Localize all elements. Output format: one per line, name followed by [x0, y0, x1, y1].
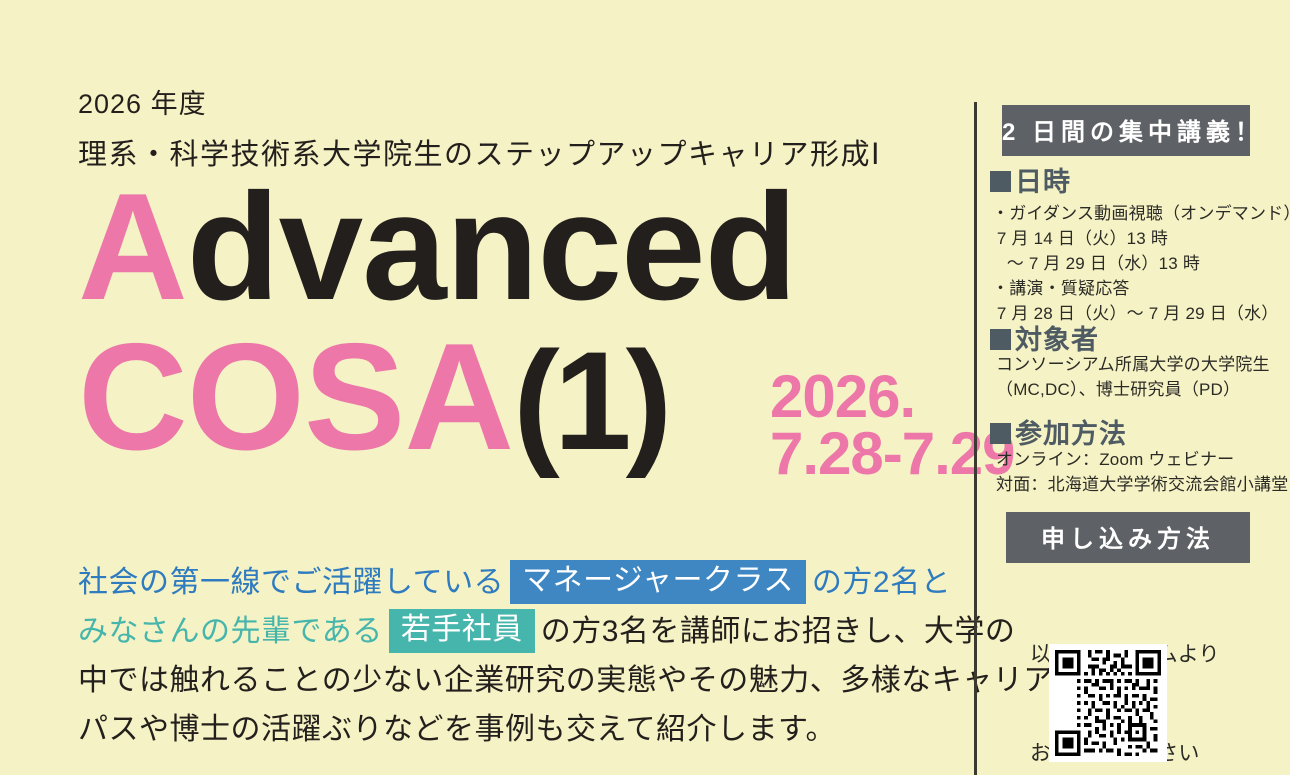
title-date-year: 2026. [770, 368, 1015, 425]
section-heading-participation-label: 参加方法 [1015, 419, 1127, 449]
description-line-1-pre: 社会の第一線でご活躍している [78, 566, 504, 599]
title-edition-number: (1) [513, 322, 666, 479]
info-sidebar: 2 日間の集中講義！ 日時 ・ガイダンス動画視聴（オンデマンド） 7 月 14 … [988, 0, 1290, 775]
title-line-cosa: COSA(1) [78, 321, 666, 473]
poster-root: 2026 年度 理系・科学技術系大学院生のステップアップキャリア形成Ⅰ Adva… [0, 0, 1290, 775]
title-line-advanced: Advanced [78, 171, 796, 323]
description-paragraph: 社会の第一線でご活躍しているマネージャークラスの方2名と みなさんの先輩である若… [78, 558, 958, 754]
description-line-3: 中では触れることの少ない企業研究の実態やその魅力、多様なキャリア [78, 656, 958, 705]
description-line-2: みなさんの先輩である若手社員の方3名を講師にお招きし、大学の [78, 607, 958, 656]
section-heading-audience-label: 対象者 [1015, 325, 1099, 355]
chip-young-employee: 若手社員 [389, 609, 535, 653]
section-heading-datetime: 日時 [990, 160, 1071, 199]
badge-how-to-apply: 申し込み方法 [1006, 512, 1250, 563]
section-body-datetime: ・ガイダンス動画視聴（オンデマンド） 7 月 14 日（火）13 時 ～ 7 月… [992, 201, 1290, 326]
title-cosa-text: COSA [78, 312, 513, 482]
left-column: 2026 年度 理系・科学技術系大学院生のステップアップキャリア形成Ⅰ Adva… [0, 0, 960, 775]
chip-manager-class: マネージャークラス [510, 560, 806, 604]
title-block: Advanced COSA(1) 2026. 7.28-7.29 [70, 183, 960, 513]
qr-code-icon[interactable] [1049, 644, 1167, 762]
section-body-audience: コンソーシアム所属大学の大学院生 （MC,DC）、博士研究員（PD） [996, 352, 1270, 402]
square-bullet-icon [990, 329, 1011, 350]
description-line-2-pre: みなさんの先輩である [78, 615, 383, 648]
title-rest-letters: dvanced [187, 162, 797, 332]
description-line-1: 社会の第一線でご活躍しているマネージャークラスの方2名と [78, 558, 958, 607]
year-label: 2026 年度 [78, 82, 207, 121]
vertical-divider [974, 102, 977, 775]
section-heading-participation: 参加方法 [990, 412, 1127, 451]
square-bullet-icon [990, 171, 1011, 192]
qr-code-svg [1055, 650, 1161, 756]
description-line-1-post: の方2名と [812, 566, 951, 599]
badge-intensive-course: 2 日間の集中講義！ [1002, 105, 1250, 156]
section-body-participation: オンライン：Zoom ウェビナー 対面：北海道大学学術交流会館小講堂 [996, 447, 1288, 497]
description-line-2-post: の方3名を講師にお招きし、大学の [541, 615, 1016, 648]
title-date-days: 7.28-7.29 [770, 425, 1015, 482]
title-accent-letter: A [78, 162, 187, 332]
description-line-4: パスや博士の活躍ぶりなどを事例も交えて紹介します。 [78, 705, 958, 754]
square-bullet-icon [990, 423, 1011, 444]
section-heading-datetime-label: 日時 [1015, 167, 1071, 197]
title-date-range: 2026. 7.28-7.29 [770, 368, 1015, 482]
